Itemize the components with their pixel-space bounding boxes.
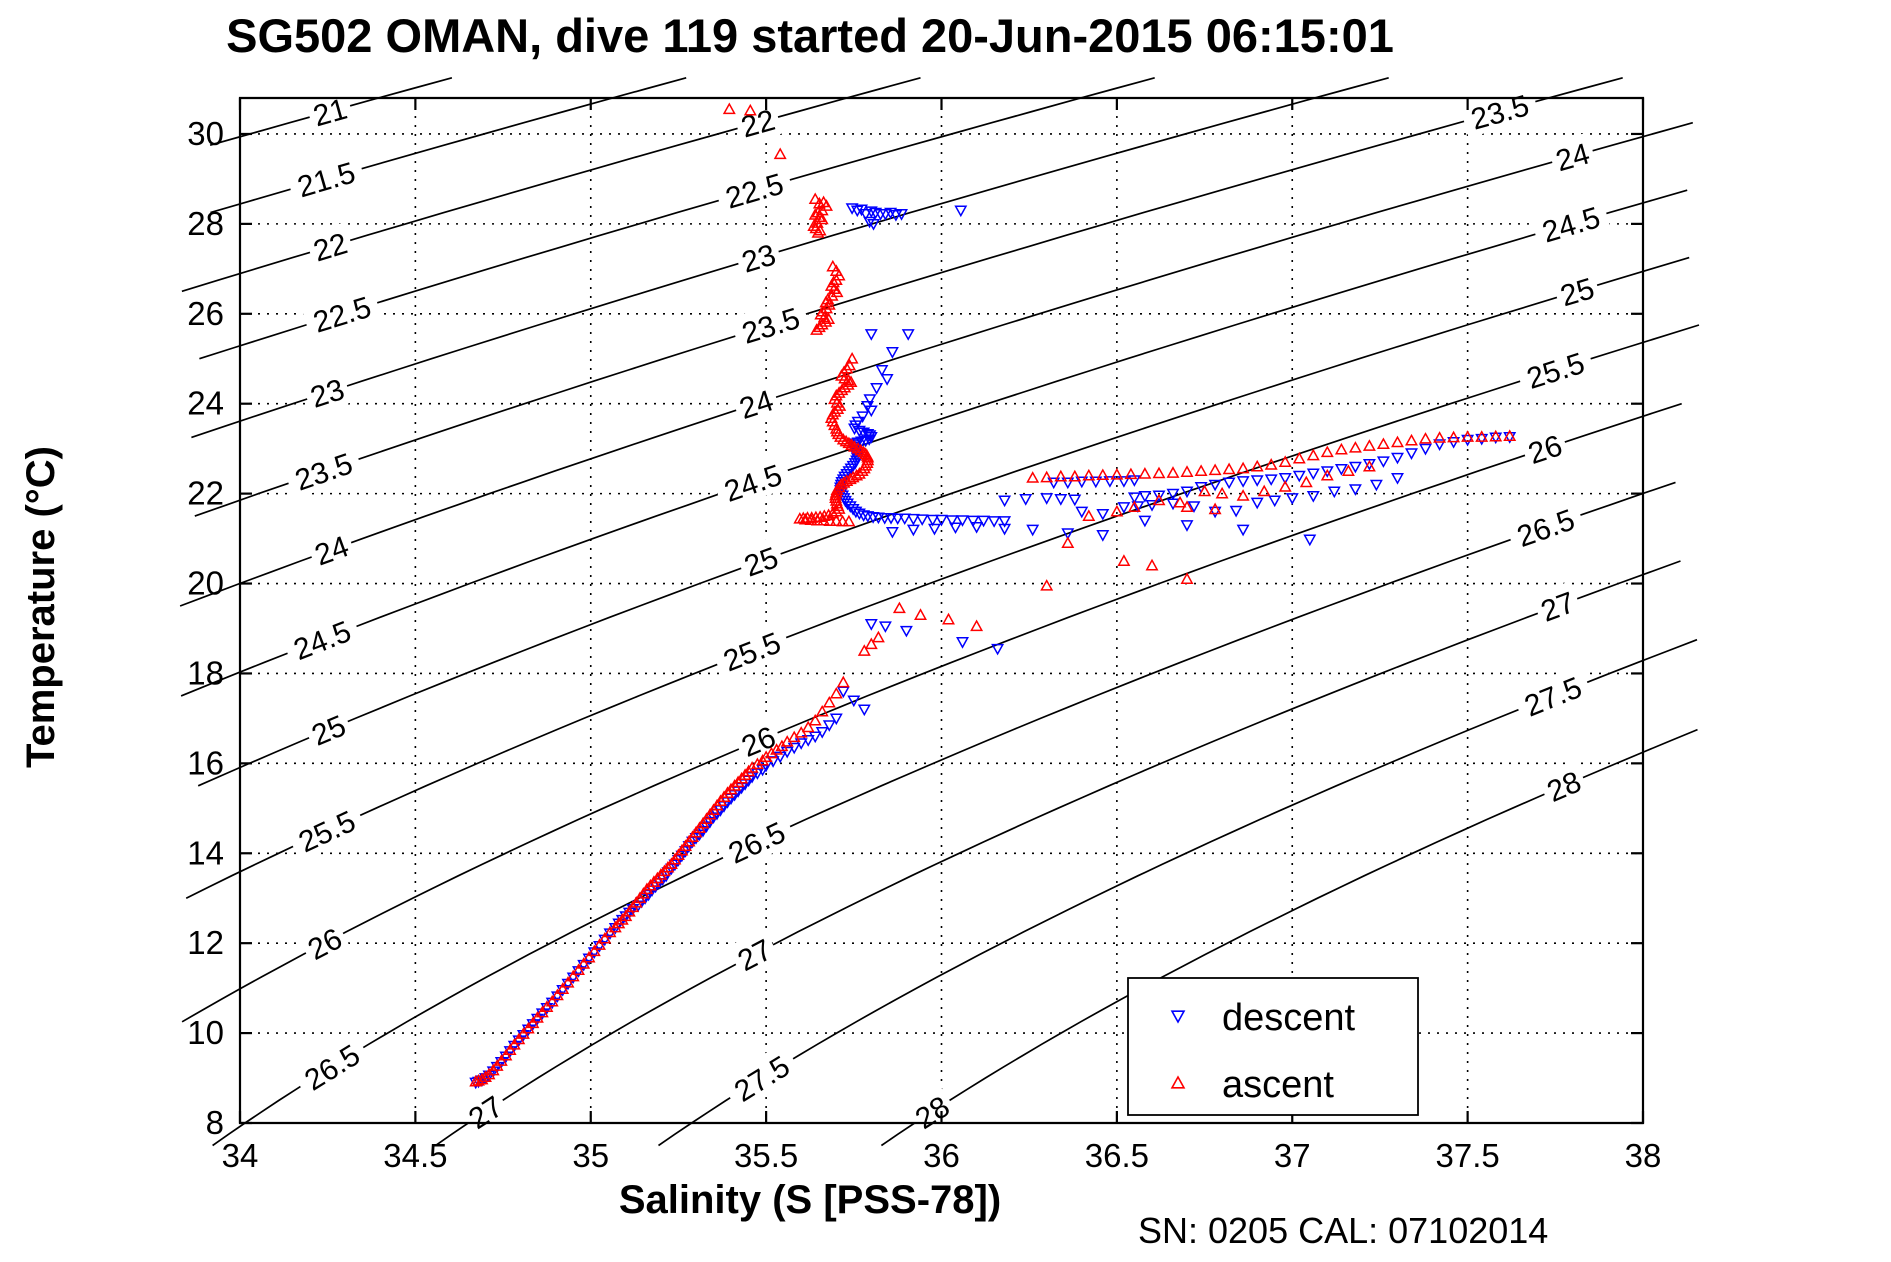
x-tick-label: 35 xyxy=(572,1137,609,1174)
data-marker xyxy=(1364,441,1374,450)
x-tick-label: 36.5 xyxy=(1085,1137,1149,1174)
isopycnal-line xyxy=(180,123,1693,606)
data-marker xyxy=(810,715,820,724)
data-marker xyxy=(1028,473,1038,482)
data-marker xyxy=(1119,556,1129,565)
data-marker xyxy=(1063,478,1073,487)
data-marker xyxy=(1119,503,1129,512)
data-marker xyxy=(1308,450,1318,459)
y-axis-tick-labels: 81012141618202224262830 xyxy=(187,115,224,1141)
data-marker xyxy=(1140,516,1150,525)
data-marker xyxy=(1098,531,1108,540)
data-marker xyxy=(1196,466,1206,475)
isopycnal-label: 21.5 xyxy=(294,156,359,204)
data-marker xyxy=(1070,471,1080,480)
x-tick-label: 36 xyxy=(923,1137,960,1174)
data-marker xyxy=(1084,470,1094,479)
data-marker xyxy=(1210,465,1220,474)
data-marker xyxy=(1336,444,1346,453)
data-marker xyxy=(1392,454,1402,463)
data-marker xyxy=(1182,521,1192,530)
data-marker xyxy=(950,523,960,532)
data-marker xyxy=(865,395,875,404)
data-marker xyxy=(903,330,913,339)
isopycnal-label: 23.5 xyxy=(738,302,804,351)
y-tick-label: 18 xyxy=(187,654,224,691)
data-marker xyxy=(1322,447,1332,456)
data-marker xyxy=(824,698,834,707)
data-marker xyxy=(1224,464,1234,473)
data-marker xyxy=(866,620,876,629)
isopycnal-line xyxy=(186,325,1699,898)
data-marker xyxy=(1420,445,1430,454)
isopycnal-label: 25.5 xyxy=(719,626,785,678)
data-marker xyxy=(859,705,869,714)
y-tick-label: 20 xyxy=(187,565,224,602)
data-marker xyxy=(1238,525,1248,534)
data-marker xyxy=(724,104,734,113)
isopycnal-label: 24.5 xyxy=(289,615,355,667)
data-marker xyxy=(1140,492,1150,501)
data-marker xyxy=(1462,432,1472,441)
y-tick-label: 22 xyxy=(187,475,224,512)
x-tick-label: 37.5 xyxy=(1436,1137,1500,1174)
data-marker xyxy=(1378,457,1388,466)
data-marker xyxy=(943,614,953,623)
data-marker xyxy=(957,638,967,647)
ts-diagram: 2121.5222222.522.5232323.523.523.5242424… xyxy=(0,0,1891,1262)
data-marker xyxy=(1305,535,1315,544)
data-marker xyxy=(971,621,981,630)
y-tick-label: 28 xyxy=(187,205,224,242)
y-tick-label: 10 xyxy=(187,1014,224,1051)
data-marker xyxy=(1182,467,1192,476)
chart-title: SG502 OMAN, dive 119 started 20-Jun-2015… xyxy=(226,9,1394,62)
data-marker xyxy=(1231,507,1241,516)
data-marker xyxy=(1294,472,1304,481)
data-marker xyxy=(1077,507,1087,516)
data-marker xyxy=(871,384,881,393)
data-marker xyxy=(1252,498,1262,507)
data-marker xyxy=(929,525,939,534)
data-marker xyxy=(1084,511,1094,520)
data-marker xyxy=(1098,470,1108,479)
data-marker xyxy=(859,646,869,655)
x-tick-label: 35.5 xyxy=(734,1137,798,1174)
data-marker xyxy=(775,149,785,158)
x-tick-label: 34.5 xyxy=(383,1137,447,1174)
figure-canvas: 2121.5222222.522.5232323.523.523.5242424… xyxy=(0,0,1891,1262)
isopycnal-label: 23.5 xyxy=(1468,89,1533,136)
isopycnal-label: 24.5 xyxy=(1539,201,1604,249)
y-tick-label: 12 xyxy=(187,924,224,961)
data-marker xyxy=(1056,471,1066,480)
data-marker xyxy=(936,516,946,525)
y-tick-label: 30 xyxy=(187,115,224,152)
x-tick-label: 34 xyxy=(222,1137,259,1174)
data-marker xyxy=(1098,510,1108,519)
data-marker xyxy=(978,516,988,525)
data-marker xyxy=(1266,475,1276,484)
data-marker xyxy=(1259,486,1269,495)
data-marker xyxy=(1112,506,1122,515)
data-marker xyxy=(873,632,883,641)
legend-label-ascent[interactable]: ascent xyxy=(1222,1064,1334,1106)
y-tick-label: 8 xyxy=(206,1104,224,1141)
data-marker xyxy=(1140,469,1150,478)
data-marker xyxy=(1042,494,1052,503)
data-marker xyxy=(824,721,834,730)
data-marker xyxy=(894,603,904,612)
data-marker xyxy=(866,639,876,648)
series-descent-markers xyxy=(471,204,1515,1088)
data-marker xyxy=(1168,468,1178,477)
legend-label-descent[interactable]: descent xyxy=(1222,997,1356,1039)
y-axis-label: Temperature (°C) xyxy=(19,446,63,768)
y-tick-label: 26 xyxy=(187,295,224,332)
data-marker xyxy=(915,610,925,619)
data-marker xyxy=(1224,478,1234,487)
data-marker xyxy=(1392,474,1402,483)
data-marker xyxy=(1301,477,1311,486)
data-marker xyxy=(1448,432,1458,441)
data-marker xyxy=(1406,435,1416,444)
data-marker xyxy=(989,517,999,526)
data-marker xyxy=(1042,472,1052,481)
data-marker xyxy=(1063,538,1073,547)
data-marker xyxy=(1329,487,1339,496)
data-marker xyxy=(901,627,911,636)
isopycnal-label: 22.5 xyxy=(722,168,787,216)
data-marker xyxy=(887,528,897,537)
isopycnal-contours xyxy=(180,78,1699,1146)
isopycnal-line xyxy=(195,78,1623,516)
data-marker xyxy=(1371,481,1381,490)
data-marker xyxy=(866,330,876,339)
isopycnal-label: 22.5 xyxy=(310,291,376,340)
isopycnal-label: 25.5 xyxy=(1523,347,1589,396)
isopycnal-line xyxy=(182,404,1682,1022)
isopycnal-line xyxy=(191,78,1388,438)
data-marker xyxy=(1056,495,1066,504)
data-marker xyxy=(1270,496,1280,505)
data-marker xyxy=(1238,491,1248,500)
x-tick-label: 38 xyxy=(1625,1137,1662,1174)
data-marker xyxy=(1126,469,1136,478)
y-tick-label: 16 xyxy=(187,744,224,781)
data-marker xyxy=(1280,457,1290,466)
data-marker xyxy=(1406,449,1416,458)
isopycnal-label: 23.5 xyxy=(291,447,357,497)
y-tick-label: 14 xyxy=(187,834,224,871)
data-marker xyxy=(882,375,892,384)
data-marker xyxy=(1028,525,1038,534)
data-marker xyxy=(803,722,813,731)
legend[interactable]: descent ascent xyxy=(1128,978,1418,1115)
data-marker xyxy=(1154,468,1164,477)
data-marker xyxy=(908,525,918,534)
isopycnal-label: 28 xyxy=(910,1090,956,1136)
isopycnal-label: 24.5 xyxy=(720,459,786,509)
isopycnal-label: 27.5 xyxy=(1520,671,1586,723)
data-marker xyxy=(1129,476,1139,485)
x-tick-label: 37 xyxy=(1274,1137,1311,1174)
data-marker xyxy=(1392,437,1402,446)
isopycnal-label: 26 xyxy=(303,922,348,967)
data-marker xyxy=(887,348,897,357)
isopycnal-label: 26.5 xyxy=(1513,503,1579,554)
data-marker xyxy=(1308,469,1318,478)
data-marker xyxy=(999,496,1009,505)
data-marker xyxy=(917,515,927,524)
footer-annotation: SN: 0205 CAL: 07102014 xyxy=(1138,1210,1548,1251)
data-marker xyxy=(1252,476,1262,485)
data-marker xyxy=(1070,495,1080,504)
data-marker xyxy=(877,366,887,375)
data-marker xyxy=(1378,439,1388,448)
data-marker xyxy=(1238,463,1248,472)
data-marker xyxy=(1350,443,1360,452)
isopycnal-line xyxy=(213,482,1676,1145)
data-marker xyxy=(1042,581,1052,590)
data-marker xyxy=(880,622,890,631)
data-marker xyxy=(1350,485,1360,494)
isopycnal-label: 27 xyxy=(733,933,778,978)
data-marker xyxy=(838,677,848,686)
data-marker xyxy=(956,206,966,215)
data-marker xyxy=(1308,492,1318,501)
data-marker xyxy=(1147,560,1157,569)
x-axis-label: Salinity (S [PSS-78]) xyxy=(619,1178,1001,1222)
isopycnal-label: 27 xyxy=(463,1090,509,1136)
data-marker xyxy=(1021,495,1031,504)
isopycnal-line xyxy=(436,561,1681,1146)
data-marker xyxy=(971,523,981,532)
data-marker xyxy=(1280,482,1290,491)
x-axis-tick-labels: 3434.53535.53636.53737.538 xyxy=(222,1137,1662,1174)
gridlines xyxy=(240,98,1643,1123)
data-marker xyxy=(831,714,841,723)
data-marker xyxy=(1238,477,1248,486)
data-marker xyxy=(1420,434,1430,443)
y-tick-label: 24 xyxy=(187,385,224,422)
data-marker xyxy=(992,645,1002,654)
data-marker xyxy=(1350,463,1360,472)
